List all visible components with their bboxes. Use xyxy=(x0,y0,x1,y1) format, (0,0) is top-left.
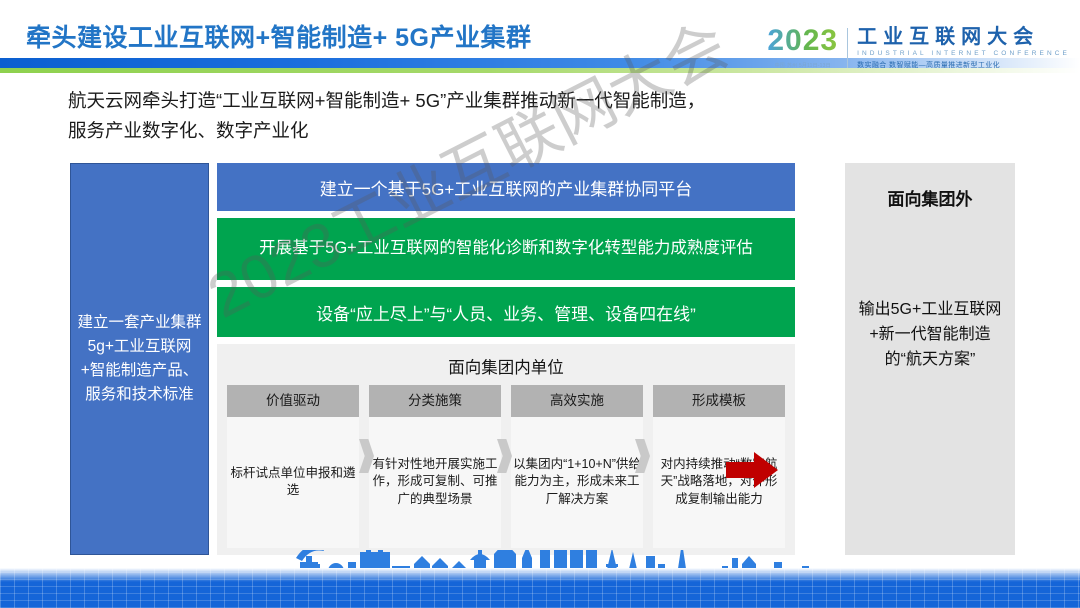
footer-decoration xyxy=(0,550,1080,608)
external-output-title: 面向集团外 xyxy=(888,185,973,210)
process-step-3: 高效实施 以集团内“1+10+N”供给能力为主，形成未来工厂解决方案 xyxy=(511,385,643,548)
process-step-1-body: 标杆试点单位申报和遴选 xyxy=(227,417,359,548)
external-output-body: 输出5G+工业互联网+新一代智能制造的“航天方案” xyxy=(845,298,1015,372)
process-step-2: 分类施策 有针对性地开展实施工作，形成可复制、可推广的典型场景 xyxy=(369,385,501,548)
lead-line-1: 航天云网牵头打造“工业互联网+智能制造+ 5G”产业集群推动新一代智能制造， xyxy=(68,86,968,116)
internal-units-title: 面向集团内单位 xyxy=(227,354,785,378)
bar-platform: 建立一个基于5G+工业互联网的产业集群协同平台 xyxy=(217,163,795,211)
logo-name-block: 工业互联网大会 INDUSTRIAL INTERNET CONFERENCE 数… xyxy=(848,26,1070,70)
bar-online: 设备“应上尽上”与“人员、业务、管理、设备四在线” xyxy=(217,287,795,337)
logo-tagline: 数实融合 数智赋能—高质量推进新型工业化 xyxy=(857,60,1070,70)
diagram: 建立一套产业集群5g+工业互联网+智能制造产品、服务和技术标准 建立一个基于5G… xyxy=(70,163,1015,558)
lead-line-2: 服务产业数字化、数字产业化 xyxy=(68,116,968,146)
lead-paragraph: 航天云网牵头打造“工业互联网+智能制造+ 5G”产业集群推动新一代智能制造， 服… xyxy=(68,86,968,146)
page-title: 牵头建设工业互联网+智能制造+ 5G产业集群 xyxy=(26,18,532,54)
process-columns: 价值驱动 标杆试点单位申报和遴选 分类施策 有针对性地开展实施工作，形成可复制、… xyxy=(227,385,785,548)
internal-units-panel: 面向集团内单位 价值驱动 标杆试点单位申报和遴选 分类施策 有针对性地开展实施工… xyxy=(217,344,795,555)
grid-floor xyxy=(0,568,1080,608)
process-step-1: 价值驱动 标杆试点单位申报和遴选 xyxy=(227,385,359,548)
logo-year: 2023 xyxy=(767,26,838,56)
logo-name-en: INDUSTRIAL INTERNET CONFERENCE xyxy=(857,50,1070,57)
left-standard-box: 建立一套产业集群5g+工业互联网+智能制造产品、服务和技术标准 xyxy=(70,163,209,555)
external-output-box: 面向集团外 输出5G+工业互联网+新一代智能制造的“航天方案” xyxy=(845,163,1015,555)
center-column: 建立一个基于5G+工业互联网的产业集群协同平台 开展基于5G+工业互联网的智能化… xyxy=(217,163,795,555)
process-step-2-body: 有针对性地开展实施工作，形成可复制、可推广的典型场景 xyxy=(369,417,501,548)
bar-assessment: 开展基于5G+工业互联网的智能化诊断和数字化转型能力成熟度评估 xyxy=(217,218,795,280)
arrow-right-red-icon xyxy=(726,450,780,490)
logo-year-block: 2023 中国·苏州 5月11日-13日 xyxy=(767,26,847,69)
process-step-1-head: 价值驱动 xyxy=(227,385,359,417)
slide-canvas: 牵头建设工业互联网+智能制造+ 5G产业集群 2023 中国·苏州 5月11日-… xyxy=(0,0,1080,608)
logo-date: 中国·苏州 5月11日-13日 xyxy=(775,62,831,69)
process-step-3-head: 高效实施 xyxy=(511,385,643,417)
process-step-2-head: 分类施策 xyxy=(369,385,501,417)
conference-logo: 2023 中国·苏州 5月11日-13日 工业互联网大会 INDUSTRIAL … xyxy=(767,26,1070,70)
process-step-3-body: 以集团内“1+10+N”供给能力为主，形成未来工厂解决方案 xyxy=(511,417,643,548)
process-step-4-head: 形成模板 xyxy=(653,385,785,417)
logo-name-cn: 工业互联网大会 xyxy=(857,26,1070,48)
